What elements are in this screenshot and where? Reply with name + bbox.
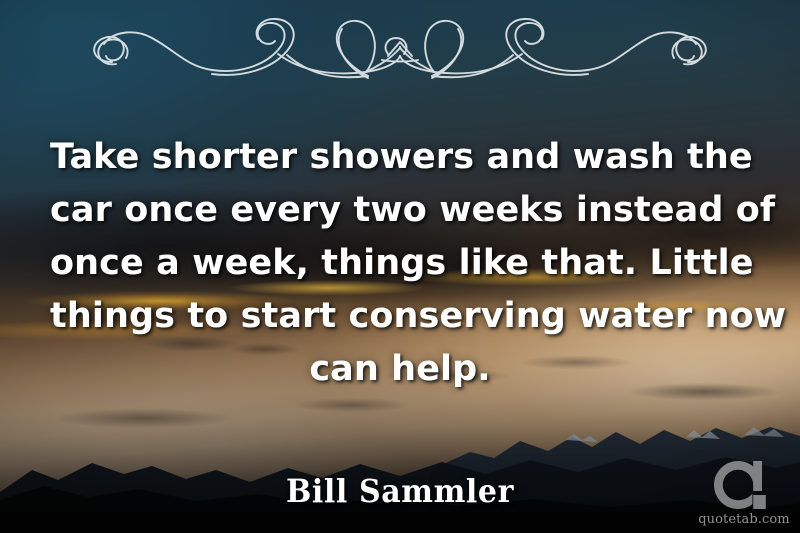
quote-line: once a week, things like that. Little (50, 237, 750, 290)
quote-line: car once every two weeks instead of (50, 184, 750, 237)
quote-card: Take shorter showers and wash the car on… (0, 0, 800, 533)
quote-line: things to start conserving water now (50, 290, 750, 343)
watermark-site-label: quotetab.com (696, 512, 792, 527)
watermark[interactable]: quotetab.com (696, 459, 792, 527)
quote-author: Bill Sammler (0, 473, 800, 510)
quotetab-q-logo-icon (712, 459, 776, 511)
quote-line: can help. (50, 343, 750, 396)
quote-line: Take shorter showers and wash the (50, 131, 750, 184)
decorative-flourish-icon (78, 14, 722, 82)
quote-text: Take shorter showers and wash the car on… (50, 131, 750, 396)
